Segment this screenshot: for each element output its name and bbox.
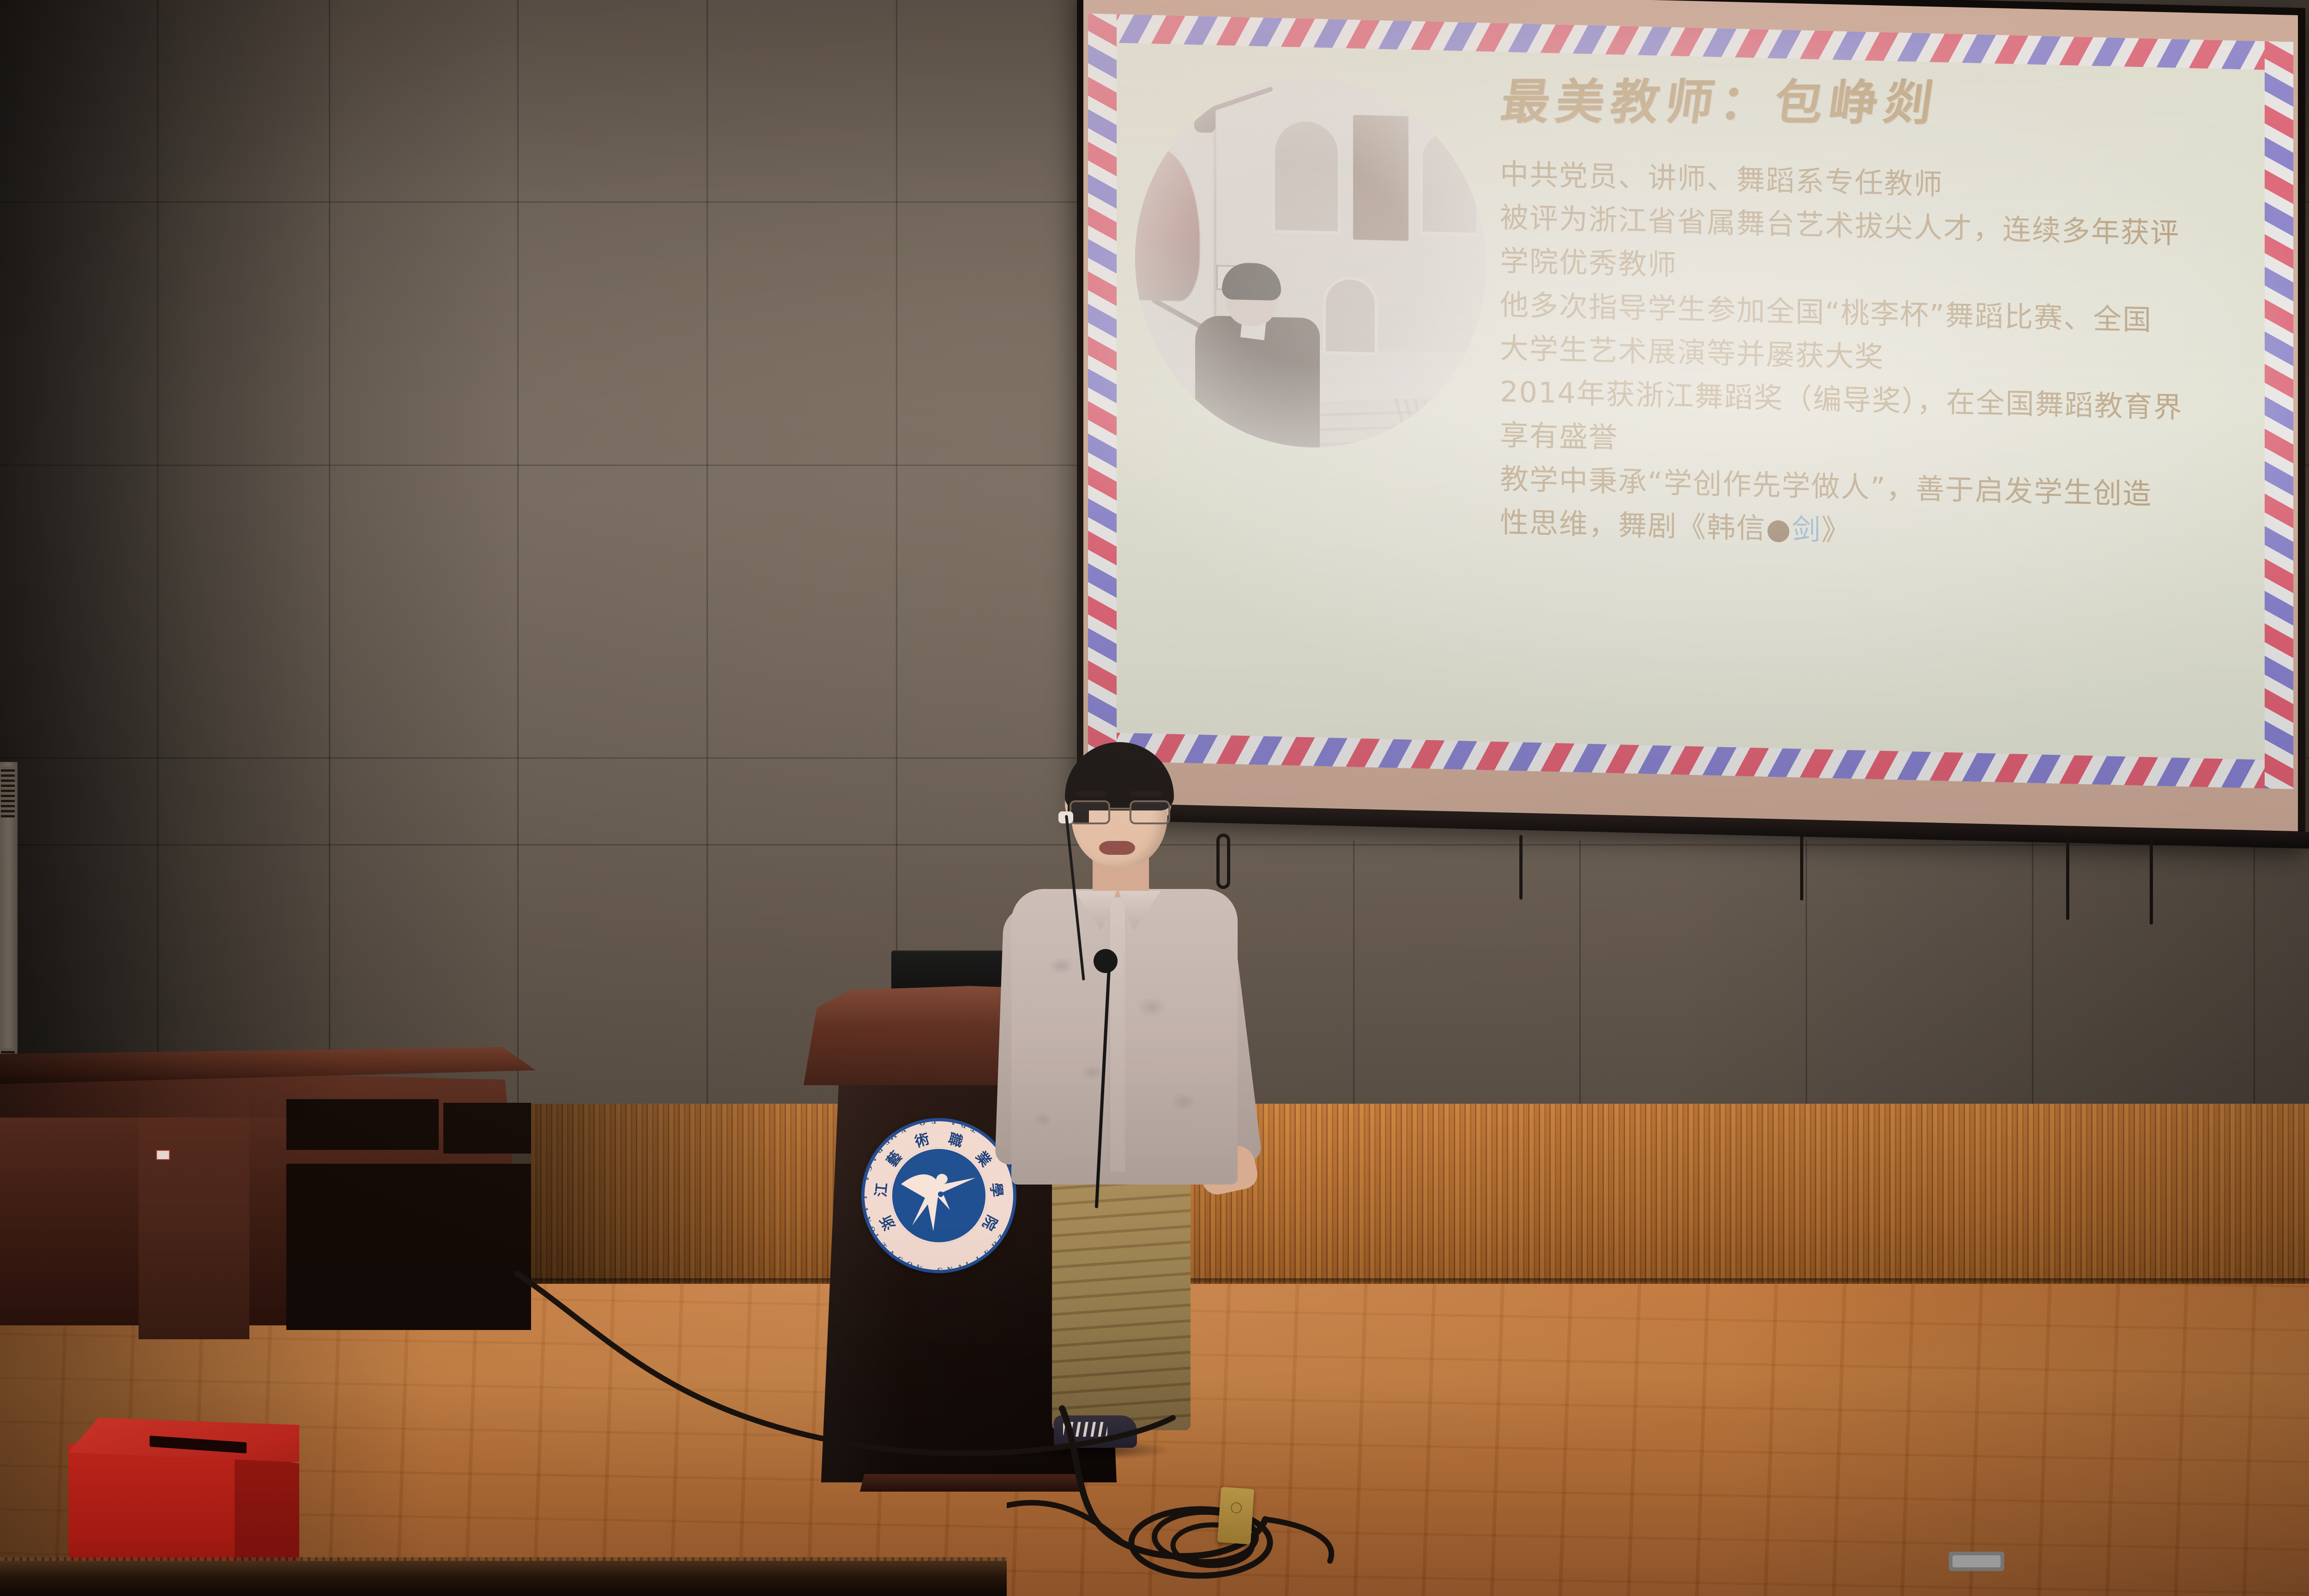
- emblem-en-char: T: [969, 1124, 979, 1135]
- emblem-en-char: J: [974, 1255, 982, 1265]
- last-line-prefix: 性思维，舞剧《韩信: [1500, 505, 1766, 545]
- slide-content-area: 最美教师：包峥剡 中共党员、讲师、舞蹈系专任教师 被评为浙江省省属舞台艺术拔尖人…: [1117, 43, 2265, 760]
- emblem-en-char: I: [871, 1232, 881, 1240]
- presenter-eyebrow-left: [1076, 791, 1107, 796]
- wood-slat-wainscot: [531, 1104, 2309, 1284]
- emblem-en-char: Y: [898, 1124, 907, 1136]
- desk-cubby-opening: [286, 1099, 439, 1150]
- glasses-bridge: [1110, 808, 1130, 810]
- projection-screen-surface: 最美教师：包峥剡 中共党员、讲师、舞蹈系专任教师 被评为浙江省省属舞台艺术拔尖人…: [1083, 0, 2298, 831]
- emblem-en-char: A: [860, 1206, 870, 1213]
- presenter-eyebrow-right: [1130, 791, 1162, 796]
- airmail-border-left: [1088, 13, 1117, 761]
- slide-body-text: 中共党员、讲师、舞蹈系专任教师 被评为浙江省省属舞台艺术拔尖人才，连续多年获评 …: [1500, 152, 2267, 562]
- hanging-cord: [1800, 836, 1803, 901]
- hanging-cord: [2066, 837, 2069, 920]
- desk-cubby-opening: [443, 1103, 531, 1154]
- hanging-cord: [1519, 835, 1523, 900]
- desk-asset-label: [156, 1150, 170, 1160]
- emblem-en-char: F: [931, 1116, 936, 1125]
- emblem-en-char: C: [895, 1254, 905, 1265]
- desk-side-panel: [139, 1081, 249, 1339]
- stage-floor-outlet-plate: [1217, 1487, 1254, 1545]
- door-vent-grille: [1, 767, 15, 817]
- presenter-glasses: [1070, 800, 1170, 824]
- last-line-suffix: 》: [1821, 513, 1851, 548]
- shirt-button-placket: [1109, 895, 1125, 1172]
- projection-screen: 最美教师：包峥剡 中共党员、讲师、舞蹈系专任教师 被评为浙江省省属舞台艺术拔尖人…: [1077, 0, 2305, 841]
- emblem-en-char: A: [886, 1248, 896, 1259]
- emblem-en-char: C: [864, 1164, 875, 1173]
- floor-outlet-cap: [1230, 1502, 1242, 1514]
- last-line-accent: 剑: [1792, 512, 1821, 547]
- emblem-en-char: R: [959, 1119, 968, 1130]
- presenter-mouth: [1099, 841, 1135, 855]
- headset-mic-capsule: [1094, 949, 1118, 973]
- presentation-slide: 最美教师：包峥剡 中共党员、讲师、舞蹈系专任教师 被评为浙江省省属舞台艺术拔尖人…: [1088, 13, 2293, 789]
- emblem-en-char: D: [874, 1145, 885, 1155]
- slide-title: 最美教师：包峥剡: [1498, 75, 2247, 130]
- emblem-en-char: T: [878, 1241, 889, 1251]
- teacher-portrait-photo: [1135, 74, 1486, 452]
- hanging-cord: [2150, 837, 2153, 925]
- emblem-en-char: O: [866, 1225, 877, 1235]
- last-line-dot: ●: [1766, 512, 1792, 546]
- floor-cable-right: [1940, 1524, 2078, 1596]
- wainscot-shading: [531, 1104, 2309, 1284]
- airmail-border-right: [2265, 41, 2293, 789]
- auditorium-scene: 最美教师：包峥剡 中共党员、讲师、舞蹈系专任教师 被评为浙江省省属舞台艺术拔尖人…: [0, 0, 2309, 1596]
- emblem-en-char: L: [859, 1196, 868, 1202]
- stage-front-edge: [0, 1561, 1007, 1596]
- emblem-en-char: N: [863, 1215, 873, 1224]
- glasses-lens-right: [1130, 800, 1170, 824]
- emblem-en-char: A: [868, 1154, 879, 1164]
- glasses-lens-left: [1070, 800, 1110, 824]
- emblem-en-char: O: [918, 1118, 926, 1128]
